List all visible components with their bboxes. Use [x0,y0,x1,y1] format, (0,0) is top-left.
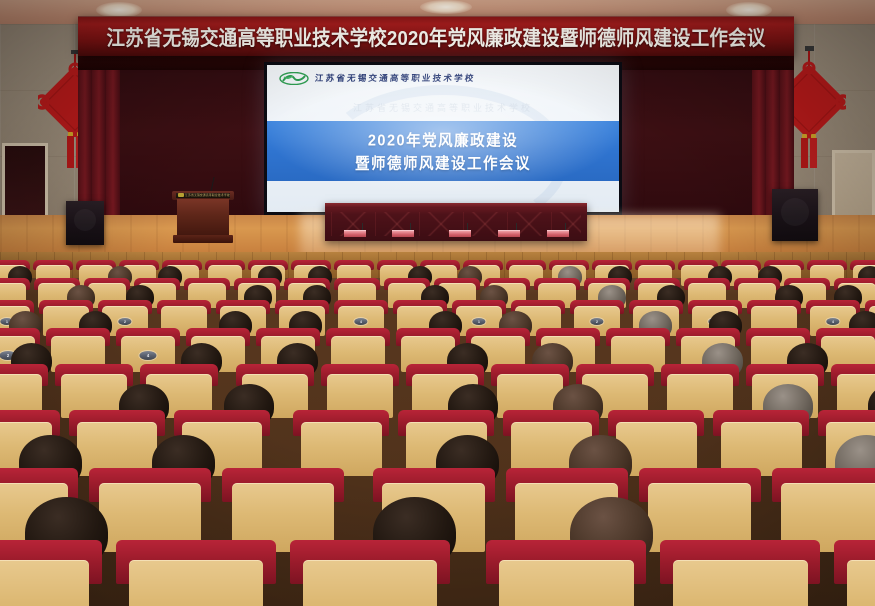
table-microphone-icon [565,223,566,230]
event-banner: 江苏省无锡交通高等职业技术学校2020年党风廉政建设暨师德师风建设工作会议 [78,16,794,56]
screen-title-line-2: 暨师德师风建设工作会议 [355,151,531,173]
auditorium-seat[interactable] [290,540,450,606]
seat-backrest [303,560,437,606]
auditorium-photo: 江苏省无锡交通高等职业技术学校2020年党风廉政建设暨师德师风建设工作会议 江苏… [0,0,875,606]
loudspeaker-left [66,201,104,245]
seat-number-plate: 4 [139,351,156,360]
head-table-top [325,203,587,208]
plaque-emblem-icon [178,193,184,197]
auditorium-seat[interactable] [834,540,875,606]
screen-header: 江苏省无锡交通高等职业技术学校 [267,65,619,91]
panelist-nameplate [392,230,414,237]
school-emblem-icon [279,72,309,85]
panelist-nameplate [344,230,366,237]
table-microphone-icon [516,223,517,230]
panelist-nameplate [547,230,569,237]
seat-backrest [129,560,263,606]
screen-school-name: 江苏省无锡交通高等职业技术学校 [314,72,476,84]
seat-number-plate: 2 [590,318,603,325]
screen-title-line-1: 2020年党风廉政建设 [368,128,518,150]
lectern-body [177,199,229,235]
auditorium-seat[interactable] [116,540,276,606]
projection-screen-frame: 江苏省无锡交通高等职业技术学校 江苏省无锡交通高等职业技术学校 2020年党风廉… [264,62,622,215]
ceiling-light [420,0,472,14]
seat-backrest [499,560,633,606]
seat-number-plate: 1 [472,318,485,325]
seat-backrest [673,560,807,606]
panelist-nameplate [498,230,520,237]
projection-screen: 江苏省无锡交通高等职业技术学校 江苏省无锡交通高等职业技术学校 2020年党风廉… [267,65,619,212]
auditorium-seat[interactable] [0,540,102,606]
screen-title-band: 2020年党风廉政建设 暨师德师风建设工作会议 [267,121,619,181]
banner-text: 江苏省无锡交通高等职业技术学校2020年党风廉政建设暨师德师风建设工作会议 [106,22,765,51]
seat-number-plate: 4 [826,318,839,325]
auditorium-seat[interactable] [69,410,165,476]
seat-number-plate: 2 [118,318,131,325]
seat-number-plate: 4 [354,318,367,325]
head-table [325,203,587,241]
auditorium-seat[interactable] [486,540,646,606]
lectern-plaque-text: 江苏省无锡交通高等职业技术学校 [185,193,230,197]
lectern-plaque: 江苏省无锡交通高等职业技术学校 [176,193,230,198]
panelist-nameplate [449,230,471,237]
audience-seating: 1234123424 [0,252,875,606]
table-microphone-icon [362,223,363,230]
screen-watermark-text: 江苏省无锡交通高等职业技术学校 [267,93,619,121]
auditorium-seat[interactable] [660,540,820,606]
loudspeaker-right [772,189,818,241]
table-microphone-icon [410,223,411,230]
lectern: 江苏省无锡交通高等职业技术学校 [172,191,234,243]
auditorium-seat[interactable] [293,410,389,476]
auditorium-seat[interactable] [713,410,809,476]
lectern-base [173,235,233,243]
seat-backrest [847,560,875,606]
table-microphone-icon [467,223,468,230]
seat-backrest [0,560,89,606]
